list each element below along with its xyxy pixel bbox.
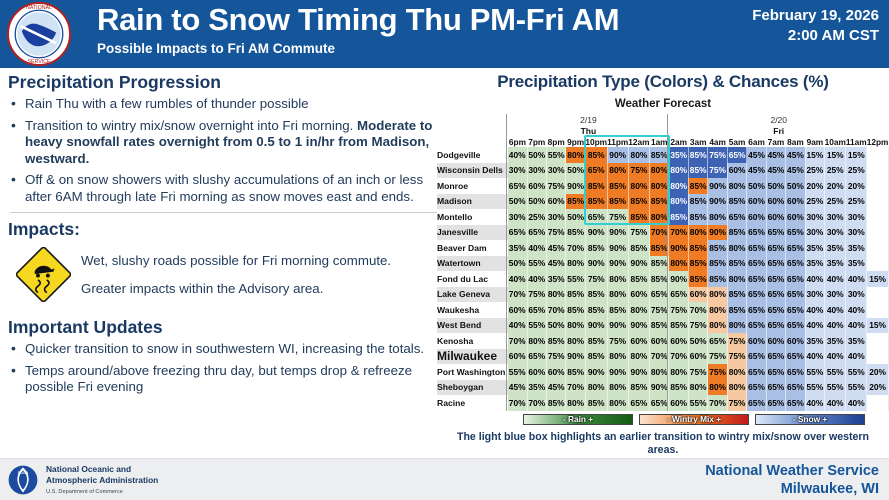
forecast-cell: 30% bbox=[825, 287, 846, 303]
forecast-cell: 60% bbox=[669, 333, 688, 349]
forecast-cell: 40% bbox=[508, 271, 527, 287]
forecast-cell: 55% bbox=[825, 364, 846, 380]
forecast-cell: 85% bbox=[566, 364, 585, 380]
column-header-10pm: 10pm bbox=[585, 136, 607, 147]
forecast-cell: 90% bbox=[607, 318, 628, 334]
forecast-cell: 65% bbox=[747, 364, 766, 380]
legend-snow-label: - Snow + bbox=[793, 414, 827, 424]
row-label-port-washington: Port Washington bbox=[437, 364, 508, 380]
forecast-cell: 65% bbox=[766, 302, 785, 318]
forecast-cell: 85% bbox=[585, 147, 607, 163]
forecast-cell: 55% bbox=[688, 395, 707, 411]
list-item: Quicker transition to snow in southweste… bbox=[8, 341, 438, 358]
forecast-cell: 90% bbox=[566, 349, 585, 365]
nws-office-location: Milwaukee, WI bbox=[705, 480, 879, 498]
forecast-cell: 90% bbox=[585, 256, 607, 272]
forecast-cell: 15% bbox=[825, 147, 846, 163]
row-label-watertown: Watertown bbox=[437, 256, 508, 272]
forecast-cell: 80% bbox=[566, 256, 585, 272]
forecast-cell: 80% bbox=[628, 302, 649, 318]
table-row: Kenosha70%80%85%80%85%75%60%60%60%50%65%… bbox=[437, 333, 889, 349]
forecast-cell: 85% bbox=[585, 333, 607, 349]
forecast-cell: 55% bbox=[825, 380, 846, 396]
forecast-cell: 80% bbox=[546, 287, 565, 303]
important-updates-section: Important Updates Quicker transition to … bbox=[8, 317, 438, 396]
forecast-cell: 20% bbox=[867, 380, 889, 396]
column-header-6am: 6am bbox=[747, 136, 766, 147]
forecast-cell: 65% bbox=[766, 318, 785, 334]
forecast-cell: 75% bbox=[708, 163, 727, 179]
forecast-cell: 35% bbox=[825, 240, 846, 256]
forecast-cell bbox=[867, 302, 889, 318]
forecast-cell: 75% bbox=[727, 349, 746, 365]
list-item: Temps around/above freezing thru day, bu… bbox=[8, 363, 438, 396]
header-date: February 19, 2026 bbox=[752, 6, 879, 26]
forecast-cell: 30% bbox=[546, 209, 565, 225]
forecast-cell: 85% bbox=[727, 302, 746, 318]
forecast-cell: 15% bbox=[846, 147, 867, 163]
forecast-cell: 60% bbox=[628, 333, 649, 349]
forecast-cell: 65% bbox=[727, 147, 746, 163]
forecast-cell: 20% bbox=[867, 364, 889, 380]
forecast-cell: 80% bbox=[669, 364, 688, 380]
forecast-cell: 50% bbox=[766, 178, 785, 194]
column-header-11am: 11am bbox=[846, 136, 867, 147]
forecast-cell: 30% bbox=[805, 225, 824, 241]
forecast-cell: 45% bbox=[786, 163, 805, 179]
forecast-cell: 40% bbox=[846, 271, 867, 287]
table-row: Janesville65%65%75%85%90%90%75%70%70%80%… bbox=[437, 225, 889, 241]
forecast-cell: 60% bbox=[727, 163, 746, 179]
forecast-cell: 15% bbox=[867, 271, 889, 287]
forecast-cell: 60% bbox=[527, 364, 546, 380]
noaa-agency-text: National Oceanic and Atmospheric Adminis… bbox=[46, 464, 158, 498]
forecast-cell: 35% bbox=[846, 256, 867, 272]
forecast-cell: 25% bbox=[527, 209, 546, 225]
forecast-cell: 85% bbox=[628, 271, 649, 287]
forecast-cell: 85% bbox=[688, 163, 707, 179]
forecast-cell: 75% bbox=[607, 333, 628, 349]
forecast-cell: 40% bbox=[805, 318, 824, 334]
bullet-text: Transition to wintry mix/snow overnight … bbox=[25, 118, 357, 133]
forecast-cell: 85% bbox=[628, 380, 649, 396]
forecast-cell: 80% bbox=[708, 287, 727, 303]
svg-text:noaa: noaa bbox=[18, 471, 29, 476]
forecast-cell: 80% bbox=[566, 395, 585, 411]
forecast-cell: 80% bbox=[607, 287, 628, 303]
forecast-cell: 80% bbox=[727, 318, 746, 334]
header-time: 2:00 AM CST bbox=[752, 26, 879, 46]
forecast-cell: 85% bbox=[727, 256, 746, 272]
bullet-text: Rain Thu with a few rumbles of thunder p… bbox=[25, 96, 309, 111]
forecast-cell: 75% bbox=[527, 287, 546, 303]
forecast-cell: 85% bbox=[585, 302, 607, 318]
forecast-cell: 65% bbox=[727, 209, 746, 225]
forecast-cell: 35% bbox=[805, 333, 824, 349]
forecast-cell: 85% bbox=[546, 333, 565, 349]
forecast-cell: 85% bbox=[669, 318, 688, 334]
forecast-cell bbox=[867, 194, 889, 210]
forecast-cell bbox=[867, 240, 889, 256]
forecast-cell: 30% bbox=[546, 163, 565, 179]
corner-cell bbox=[437, 136, 508, 147]
forecast-cell: 30% bbox=[846, 225, 867, 241]
table-row: Monroe65%60%75%90%85%85%80%80%80%85%90%8… bbox=[437, 178, 889, 194]
forecast-cell: 80% bbox=[527, 333, 546, 349]
forecast-cell: 85% bbox=[669, 380, 688, 396]
highlight-box-note: The light blue box highlights an earlier… bbox=[437, 431, 889, 457]
forecast-cell: 90% bbox=[708, 178, 727, 194]
forecast-cell: 85% bbox=[708, 271, 727, 287]
forecast-cell: 50% bbox=[566, 209, 585, 225]
forecast-cell: 40% bbox=[508, 147, 527, 163]
forecast-cell: 90% bbox=[607, 225, 628, 241]
column-header-7am: 7am bbox=[766, 136, 785, 147]
infographic-root: NATIONAL SERVICE Rain to Snow Timing Thu… bbox=[0, 0, 889, 500]
forecast-cell: 80% bbox=[607, 163, 628, 179]
forecast-cell: 50% bbox=[747, 178, 766, 194]
forecast-cell: 65% bbox=[708, 333, 727, 349]
forecast-cell: 85% bbox=[669, 209, 688, 225]
forecast-cell: 65% bbox=[786, 256, 805, 272]
weather-forecast-table-title: Weather Forecast bbox=[437, 98, 889, 110]
forecast-cell: 65% bbox=[669, 287, 688, 303]
forecast-cell: 85% bbox=[708, 240, 727, 256]
forecast-cell: 75% bbox=[628, 225, 649, 241]
right-panel: Precipitation Type (Colors) & Chances (%… bbox=[437, 72, 889, 457]
row-label-monroe: Monroe bbox=[437, 178, 508, 194]
forecast-cell: 75% bbox=[708, 349, 727, 365]
forecast-cell: 75% bbox=[708, 364, 727, 380]
forecast-cell: 60% bbox=[508, 349, 527, 365]
forecast-cell: 80% bbox=[727, 364, 746, 380]
forecast-cell: 25% bbox=[825, 194, 846, 210]
forecast-cell: 40% bbox=[825, 395, 846, 411]
forecast-cell bbox=[867, 178, 889, 194]
forecast-cell: 60% bbox=[766, 209, 785, 225]
forecast-cell: 60% bbox=[747, 194, 766, 210]
forecast-cell: 90% bbox=[628, 318, 649, 334]
forecast-cell bbox=[867, 147, 889, 163]
table-row: Milwaukee60%65%75%90%85%80%80%70%70%60%7… bbox=[437, 349, 889, 365]
forecast-cell: 30% bbox=[825, 209, 846, 225]
forecast-cell: 60% bbox=[786, 194, 805, 210]
forecast-cell bbox=[867, 163, 889, 179]
forecast-cell: 55% bbox=[566, 271, 585, 287]
forecast-cell: 60% bbox=[508, 302, 527, 318]
day-label-thu: Thu bbox=[508, 125, 669, 136]
forecast-cell: 70% bbox=[566, 240, 585, 256]
precip-progression-list: Rain Thu with a few rumbles of thunder p… bbox=[8, 96, 438, 205]
table-row: Port Washington55%60%60%85%90%90%90%80%8… bbox=[437, 364, 889, 380]
forecast-cell: 85% bbox=[585, 194, 607, 210]
forecast-cell: 80% bbox=[708, 302, 727, 318]
table-hour-header-row: 6pm7pm8pm9pm10pm11pm12am1am2am3am4am5am6… bbox=[437, 136, 889, 147]
column-header-9am: 9am bbox=[805, 136, 824, 147]
forecast-cell: 65% bbox=[747, 240, 766, 256]
forecast-cell: 80% bbox=[688, 225, 707, 241]
legend-rain: - Rain + bbox=[523, 414, 633, 425]
forecast-cell: 35% bbox=[546, 271, 565, 287]
forecast-cell: 70% bbox=[566, 380, 585, 396]
forecast-cell: 90% bbox=[607, 147, 628, 163]
forecast-cell: 45% bbox=[546, 240, 565, 256]
forecast-cell: 75% bbox=[546, 178, 565, 194]
table-row: Racine70%70%85%80%85%80%65%65%60%55%70%7… bbox=[437, 395, 889, 411]
forecast-cell bbox=[867, 395, 889, 411]
forecast-cell: 55% bbox=[846, 364, 867, 380]
forecast-cell: 50% bbox=[508, 194, 527, 210]
date-label-fri: 2/20 bbox=[669, 114, 889, 125]
column-header-9pm: 9pm bbox=[566, 136, 585, 147]
forecast-cell: 80% bbox=[727, 240, 746, 256]
forecast-cell: 60% bbox=[786, 333, 805, 349]
forecast-cell: 35% bbox=[825, 333, 846, 349]
forecast-cell: 30% bbox=[527, 163, 546, 179]
forecast-cell: 60% bbox=[688, 349, 707, 365]
forecast-cell: 50% bbox=[527, 147, 546, 163]
forecast-cell: 85% bbox=[688, 194, 707, 210]
forecast-cell bbox=[867, 349, 889, 365]
table-day-row: ThuFri bbox=[437, 125, 889, 136]
forecast-cell: 60% bbox=[628, 287, 649, 303]
impacts-section: Impacts: Wet, slushy roads possible for … bbox=[8, 219, 438, 309]
forecast-cell: 90% bbox=[607, 256, 628, 272]
row-label-beaver-dam: Beaver Dam bbox=[437, 240, 508, 256]
bullet-text: Off & on snow showers with slushy accumu… bbox=[25, 172, 423, 204]
forecast-cell: 40% bbox=[825, 349, 846, 365]
forecast-cell: 45% bbox=[546, 380, 565, 396]
row-label-west-bend: West Bend bbox=[437, 318, 508, 334]
forecast-cell: 65% bbox=[747, 395, 766, 411]
row-label-milwaukee: Milwaukee bbox=[437, 349, 508, 365]
forecast-cell: 65% bbox=[508, 178, 527, 194]
forecast-cell: 65% bbox=[766, 271, 785, 287]
forecast-cell: 65% bbox=[527, 225, 546, 241]
forecast-cell: 60% bbox=[527, 178, 546, 194]
forecast-cell: 30% bbox=[846, 287, 867, 303]
forecast-cell: 80% bbox=[669, 163, 688, 179]
table-row: Dodgeville40%50%55%80%85%90%80%85%35%85%… bbox=[437, 147, 889, 163]
table-row: Sheboygan45%35%45%70%80%80%85%90%85%80%8… bbox=[437, 380, 889, 396]
forecast-cell: 55% bbox=[805, 364, 824, 380]
forecast-cell: 65% bbox=[766, 225, 785, 241]
forecast-cell: 85% bbox=[688, 256, 707, 272]
left-panel: Precipitation Progression Rain Thu with … bbox=[8, 72, 438, 401]
forecast-cell: 65% bbox=[527, 302, 546, 318]
forecast-cell: 55% bbox=[527, 256, 546, 272]
column-header-12pm: 12pm bbox=[867, 136, 889, 147]
row-label-wisconsin-dells: Wisconsin Dells bbox=[437, 163, 508, 179]
forecast-cell: 75% bbox=[546, 349, 565, 365]
forecast-cell: 80% bbox=[566, 318, 585, 334]
forecast-cell: 70% bbox=[527, 395, 546, 411]
forecast-cell bbox=[867, 256, 889, 272]
forecast-cell: 60% bbox=[747, 209, 766, 225]
forecast-cell: 40% bbox=[527, 240, 546, 256]
forecast-cell: 45% bbox=[766, 147, 785, 163]
row-label-madison: Madison bbox=[437, 194, 508, 210]
forecast-cell: 25% bbox=[805, 163, 824, 179]
column-header-7pm: 7pm bbox=[527, 136, 546, 147]
forecast-cell: 55% bbox=[527, 318, 546, 334]
table-row: Wisconsin Dells30%30%30%50%65%80%75%80%8… bbox=[437, 163, 889, 179]
forecast-cell: 45% bbox=[747, 147, 766, 163]
noaa-logo-icon: noaa bbox=[8, 465, 38, 495]
forecast-cell: 60% bbox=[747, 333, 766, 349]
row-label-sheboygan: Sheboygan bbox=[437, 380, 508, 396]
table-date-row: 2/192/20 bbox=[437, 114, 889, 125]
forecast-cell: 40% bbox=[825, 271, 846, 287]
row-label-racine: Racine bbox=[437, 395, 508, 411]
slippery-road-sign-icon bbox=[16, 247, 71, 302]
forecast-cell: 80% bbox=[708, 209, 727, 225]
forecast-cell: 70% bbox=[708, 395, 727, 411]
row-label-lake-geneva: Lake Geneva bbox=[437, 287, 508, 303]
forecast-cell: 90% bbox=[708, 194, 727, 210]
forecast-cell: 60% bbox=[786, 209, 805, 225]
spacer-cell bbox=[437, 114, 508, 125]
forecast-cell: 15% bbox=[867, 318, 889, 334]
noaa-line-2: Atmospheric Administration bbox=[46, 475, 158, 486]
forecast-cell: 60% bbox=[669, 395, 688, 411]
forecast-cell: 85% bbox=[585, 349, 607, 365]
forecast-cell: 55% bbox=[508, 364, 527, 380]
table-row: Montello30%25%30%50%65%75%85%80%85%85%80… bbox=[437, 209, 889, 225]
forecast-cell: 75% bbox=[607, 209, 628, 225]
nws-office-text: National Weather Service Milwaukee, WI bbox=[705, 462, 879, 498]
forecast-table: 2/192/20ThuFri6pm7pm8pm9pm10pm11pm12am1a… bbox=[437, 114, 889, 411]
forecast-cell: 85% bbox=[607, 302, 628, 318]
important-updates-list: Quicker transition to snow in southweste… bbox=[8, 341, 438, 396]
forecast-cell: 55% bbox=[805, 380, 824, 396]
svg-text:SERVICE: SERVICE bbox=[27, 59, 51, 65]
forecast-cell: 85% bbox=[607, 178, 628, 194]
date-label-thu: 2/19 bbox=[508, 114, 669, 125]
forecast-cell: 65% bbox=[747, 271, 766, 287]
column-header-2am: 2am bbox=[669, 136, 688, 147]
forecast-cell: 90% bbox=[566, 178, 585, 194]
forecast-cell: 65% bbox=[766, 256, 785, 272]
forecast-cell: 90% bbox=[607, 364, 628, 380]
day-label-fri: Fri bbox=[669, 125, 889, 136]
page-header: NATIONAL SERVICE Rain to Snow Timing Thu… bbox=[0, 0, 889, 68]
legend-wintry-mix-label: - Wintry Mix + bbox=[667, 414, 721, 424]
forecast-cell: 40% bbox=[508, 318, 527, 334]
forecast-cell: 85% bbox=[566, 287, 585, 303]
forecast-cell: 85% bbox=[708, 256, 727, 272]
forecast-cell: 35% bbox=[669, 147, 688, 163]
forecast-cell: 50% bbox=[688, 333, 707, 349]
forecast-cell: 85% bbox=[688, 209, 707, 225]
noaa-line-1: National Oceanic and bbox=[46, 464, 158, 475]
forecast-cell: 60% bbox=[688, 287, 707, 303]
forecast-cell: 70% bbox=[508, 287, 527, 303]
forecast-cell: 50% bbox=[546, 318, 565, 334]
forecast-cell bbox=[867, 333, 889, 349]
forecast-cell: 70% bbox=[669, 225, 688, 241]
forecast-cell: 20% bbox=[846, 178, 867, 194]
forecast-cell: 80% bbox=[585, 380, 607, 396]
list-item: Off & on snow showers with slushy accumu… bbox=[8, 172, 438, 205]
forecast-cell: 85% bbox=[628, 209, 649, 225]
column-header-10am: 10am bbox=[825, 136, 846, 147]
nws-seal-icon: NATIONAL SERVICE bbox=[6, 1, 72, 67]
column-header-4am: 4am bbox=[708, 136, 727, 147]
forecast-cell: 65% bbox=[786, 287, 805, 303]
forecast-cell: 35% bbox=[805, 256, 824, 272]
forecast-cell: 70% bbox=[508, 395, 527, 411]
forecast-cell: 35% bbox=[846, 240, 867, 256]
forecast-cell: 65% bbox=[747, 349, 766, 365]
forecast-cell: 65% bbox=[786, 364, 805, 380]
header-datetime: February 19, 2026 2:00 AM CST bbox=[752, 6, 879, 46]
forecast-cell: 75% bbox=[585, 271, 607, 287]
forecast-cell: 85% bbox=[688, 178, 707, 194]
page-subtitle: Possible Impacts to Fri AM Commute bbox=[97, 41, 737, 56]
divider bbox=[10, 212, 438, 213]
impact-text: Wet, slushy roads possible for Fri morni… bbox=[81, 253, 391, 268]
forecast-cell: 50% bbox=[508, 256, 527, 272]
precip-progression-heading: Precipitation Progression bbox=[8, 72, 438, 93]
bullet-text: Quicker transition to snow in southweste… bbox=[25, 341, 424, 356]
forecast-cell: 25% bbox=[846, 163, 867, 179]
impact-text: Greater impacts within the Advisory area… bbox=[81, 281, 391, 296]
forecast-cell: 90% bbox=[585, 225, 607, 241]
forecast-cell: 65% bbox=[786, 271, 805, 287]
forecast-cell: 40% bbox=[825, 302, 846, 318]
forecast-cell bbox=[867, 287, 889, 303]
forecast-cell: 70% bbox=[688, 302, 707, 318]
forecast-cell: 50% bbox=[527, 194, 546, 210]
forecast-cell: 85% bbox=[566, 194, 585, 210]
forecast-cell: 45% bbox=[747, 163, 766, 179]
forecast-cell: 40% bbox=[846, 302, 867, 318]
forecast-cell: 40% bbox=[805, 349, 824, 365]
forecast-cell: 35% bbox=[846, 333, 867, 349]
forecast-table-wrapper: 2/192/20ThuFri6pm7pm8pm9pm10pm11pm12am1a… bbox=[437, 114, 889, 411]
forecast-cell: 60% bbox=[766, 333, 785, 349]
forecast-cell: 80% bbox=[628, 349, 649, 365]
forecast-cell: 30% bbox=[805, 209, 824, 225]
forecast-cell: 60% bbox=[546, 364, 565, 380]
table-row: Waukesha60%65%70%85%85%85%80%75%75%70%80… bbox=[437, 302, 889, 318]
forecast-cell: 85% bbox=[585, 395, 607, 411]
table-row: Fond du Lac40%40%35%55%75%80%85%85%90%85… bbox=[437, 271, 889, 287]
forecast-cell: 75% bbox=[727, 333, 746, 349]
forecast-cell: 90% bbox=[628, 364, 649, 380]
forecast-cell: 30% bbox=[846, 209, 867, 225]
forecast-cell: 90% bbox=[585, 364, 607, 380]
forecast-cell: 40% bbox=[805, 395, 824, 411]
forecast-cell: 20% bbox=[805, 178, 824, 194]
forecast-cell: 45% bbox=[546, 256, 565, 272]
forecast-cell: 85% bbox=[727, 287, 746, 303]
nws-name: National Weather Service bbox=[705, 462, 879, 480]
forecast-cell: 60% bbox=[546, 194, 565, 210]
bullet-text: Temps around/above freezing thru day, bu… bbox=[25, 363, 412, 395]
forecast-cell: 65% bbox=[747, 380, 766, 396]
forecast-cell: 75% bbox=[688, 364, 707, 380]
spacer-cell bbox=[437, 125, 508, 136]
forecast-cell: 85% bbox=[688, 147, 707, 163]
precip-type-legend: - Rain + - Wintry Mix + - Snow + bbox=[437, 414, 889, 425]
forecast-cell: 80% bbox=[727, 271, 746, 287]
forecast-cell: 80% bbox=[727, 380, 746, 396]
forecast-cell bbox=[867, 225, 889, 241]
forecast-cell: 65% bbox=[747, 225, 766, 241]
forecast-cell: 65% bbox=[766, 364, 785, 380]
